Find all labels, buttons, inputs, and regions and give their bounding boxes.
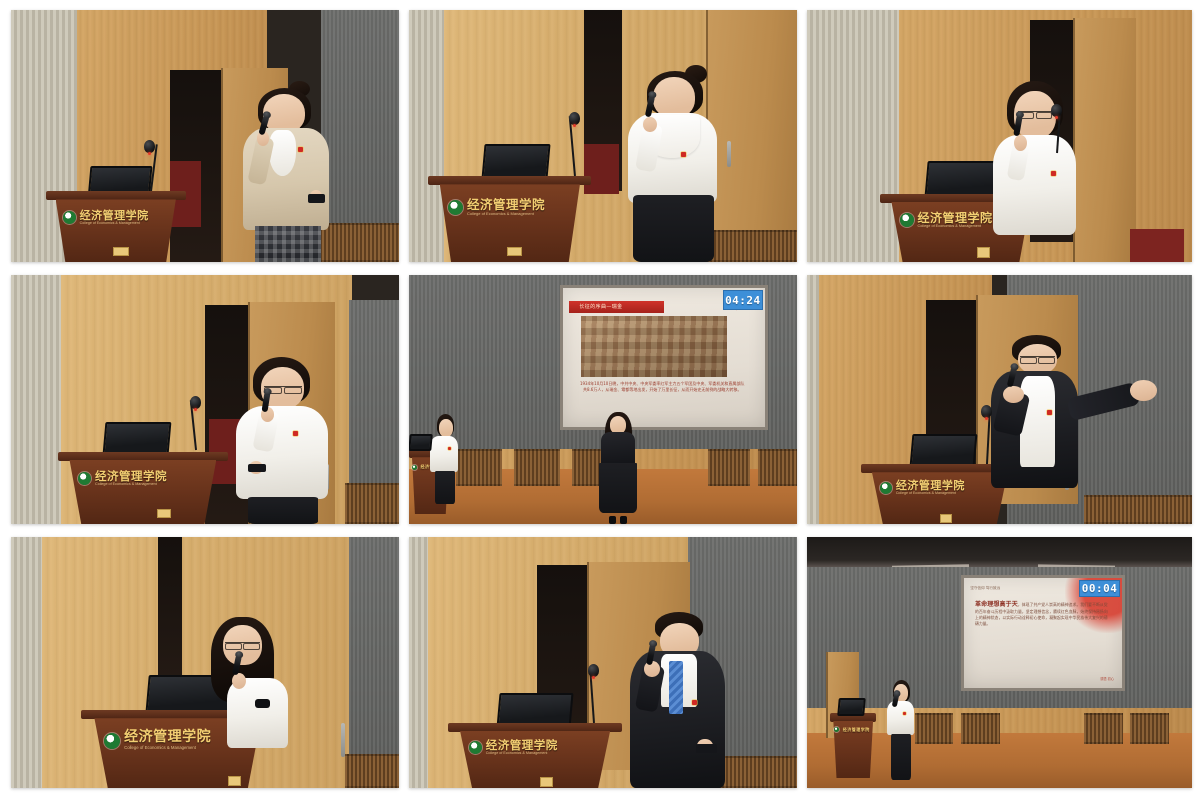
black-dress-top xyxy=(601,432,635,466)
acoustic-panel-left xyxy=(11,275,61,524)
gooseneck-microphone xyxy=(1050,108,1062,153)
party-emblem-badge xyxy=(1051,171,1056,176)
slide-header: 坚守信仰 笃行致远 xyxy=(970,586,1000,591)
acoustic-panel-left xyxy=(807,275,819,524)
podium-laptop xyxy=(104,422,170,454)
photo-cell-bottom-center[interactable]: 经济管理学院 College of Economics & Management xyxy=(409,537,797,788)
white-top xyxy=(887,701,913,735)
lectern-podium: 经济管理学院 xyxy=(830,713,876,778)
podium-nameplate xyxy=(157,509,171,518)
podium-nameplate xyxy=(228,776,241,786)
photo-cell-bottom-left[interactable]: 经济管理学院 College of Economics & Management xyxy=(11,537,399,788)
lectern-podium: 经济管理学院 College of Economics & Management xyxy=(448,723,623,788)
hand-holding-microphone xyxy=(643,117,657,133)
acoustic-panel-right xyxy=(349,537,399,768)
slide-banner-title: 长征的序曲—瑞金 xyxy=(569,301,664,314)
hand-holding-microphone xyxy=(1003,386,1024,403)
wall-vent xyxy=(961,713,1000,745)
wall-vent xyxy=(345,483,399,524)
photo-cell-middle-right[interactable]: 经济管理学院 College of Economics & Management xyxy=(807,275,1192,524)
photo-cell-bottom-right[interactable]: 坚守信仰 笃行致远 革命理想高于天，体现了共产党人崇高的精神追求。我们要不断从党… xyxy=(807,537,1192,788)
podium-label-cn: 经济管理学院 xyxy=(486,740,558,752)
door-handle xyxy=(341,723,345,757)
podium-label-cn: 经济管理学院 xyxy=(80,210,149,221)
slide-caption: 1934年10月10日晚，中共中央、中央军委率红军主力五个军团及中央、军委机关和… xyxy=(579,381,744,406)
podium-nameplate xyxy=(940,514,952,523)
hand-holding-microphone xyxy=(1014,135,1027,151)
doorway-edge xyxy=(158,537,181,683)
college-seal-logo xyxy=(78,472,91,485)
wall-vent xyxy=(345,754,399,788)
photo-cell-top-left[interactable]: 经济管理学院 College of Economics & Management xyxy=(11,10,399,262)
podium-label-en: College of Economics & Management xyxy=(95,483,167,487)
photo-8-scene: 经济管理学院 College of Economics & Management xyxy=(409,537,797,788)
podium-label-en: College of Economics & Management xyxy=(486,752,558,756)
white-shirt xyxy=(993,135,1076,235)
slide-artwork xyxy=(581,316,726,377)
party-emblem-badge xyxy=(692,700,697,705)
acoustic-panel-left xyxy=(409,537,428,788)
person-speaker xyxy=(611,65,751,262)
college-seal-logo xyxy=(469,741,482,754)
countdown-timer: 04:24 xyxy=(723,290,763,310)
black-skirt xyxy=(633,195,714,262)
shoe-left xyxy=(609,516,616,524)
acoustic-panel-left xyxy=(11,537,42,788)
photo-5-scene: 长征的序曲—瑞金 长征 1934年10月10日晚，中共中央、中央军委率红军主力五… xyxy=(409,275,797,524)
slide-quote: 革命理想高于天 xyxy=(975,601,1018,608)
projection-screen: 长征的序曲—瑞金 长征 1934年10月10日晚，中共中央、中央军委率红军主力五… xyxy=(560,285,768,430)
blue-necktie xyxy=(669,661,683,714)
podium-label-cn: 经济管理学院 xyxy=(918,212,993,224)
podium-label-cn: 经济管理学院 xyxy=(95,471,167,483)
presentation-clicker xyxy=(308,194,325,203)
face xyxy=(439,419,453,437)
podium-label-cn: 经济管理学院 xyxy=(843,728,870,732)
person-speaker xyxy=(595,412,642,524)
photo-cell-top-right[interactable]: 经济管理学院 College of Economics & Management xyxy=(807,10,1192,262)
host-laptop xyxy=(409,434,432,451)
white-shirt xyxy=(1020,376,1055,467)
gooseneck-microphone xyxy=(568,116,580,176)
black-dress-skirt xyxy=(599,463,636,512)
party-emblem-badge xyxy=(448,447,451,450)
red-chair-background xyxy=(1130,229,1184,262)
slide-footer: 感悟 初心 xyxy=(1100,676,1114,681)
lectern-podium: 经济管理学院 College of Economics & Management xyxy=(58,452,229,524)
college-seal-logo xyxy=(880,482,892,494)
wall-vent xyxy=(758,449,797,485)
presentation-clicker xyxy=(248,464,265,472)
shoe-right xyxy=(620,516,627,524)
party-emblem-badge xyxy=(1047,410,1052,415)
photo-cell-middle-center[interactable]: 长征的序曲—瑞金 长征 1934年10月10日晚，中共中央、中央军委率红军主力五… xyxy=(409,275,797,524)
open-hand xyxy=(1130,380,1157,401)
wristwatch xyxy=(255,699,270,708)
white-polo xyxy=(430,436,458,472)
photo-2-scene: 经济管理学院 College of Economics & Management xyxy=(409,10,797,262)
wall-vent xyxy=(1084,713,1123,745)
photo-4-scene: 经济管理学院 College of Economics & Management xyxy=(11,275,399,524)
checked-skirt xyxy=(255,226,321,262)
college-seal-logo xyxy=(104,733,120,749)
person-speaker xyxy=(984,81,1100,262)
projection-screen: 坚守信仰 笃行致远 革命理想高于天，体现了共产党人崇高的精神追求。我们要不断从党… xyxy=(961,575,1125,691)
party-emblem-badge xyxy=(298,147,303,152)
person-speaker xyxy=(611,612,751,788)
person-host xyxy=(428,414,463,504)
gooseneck-microphone xyxy=(980,409,992,464)
person-speaker xyxy=(884,680,919,780)
lectern-podium: 经济管理学院 College of Economics & Management xyxy=(428,176,591,262)
dark-trousers xyxy=(435,471,455,504)
college-seal-logo xyxy=(63,211,76,224)
wall-vent xyxy=(1130,713,1169,745)
outstretched-arm xyxy=(1066,381,1140,420)
person-speaker xyxy=(224,83,364,262)
ceiling xyxy=(807,537,1192,570)
photo-cell-top-center[interactable]: 经济管理学院 College of Economics & Management xyxy=(409,10,797,262)
white-top xyxy=(227,678,288,748)
photo-6-scene: 经济管理学院 College of Economics & Management xyxy=(807,275,1192,524)
gooseneck-microphone xyxy=(189,400,201,450)
slide-body-text: 革命理想高于天，体现了共产党人崇高的精神追求。我们要不断从党的百年奋斗历程中汲取… xyxy=(975,600,1108,662)
college-seal-logo xyxy=(834,727,839,732)
podium-label-en: College of Economics & Management xyxy=(918,225,993,229)
white-shirt xyxy=(236,406,328,499)
party-emblem-badge xyxy=(293,431,298,436)
party-emblem-badge xyxy=(681,152,686,157)
photo-cell-middle-left[interactable]: 经济管理学院 College of Economics & Management xyxy=(11,275,399,524)
photo-7-scene: 经济管理学院 College of Economics & Management xyxy=(11,537,399,788)
person-speaker xyxy=(228,357,352,524)
photo-collage-grid: 经济管理学院 College of Economics & Management xyxy=(0,0,1202,802)
college-seal-logo xyxy=(448,200,463,215)
photo-1-scene: 经济管理学院 College of Economics & Management xyxy=(11,10,399,262)
hand-holding-microphone xyxy=(232,673,246,689)
college-seal-logo xyxy=(900,213,914,227)
podium-nameplate xyxy=(540,777,553,787)
podium-label-cn: 经济管理学院 xyxy=(467,199,545,212)
wall-vent xyxy=(514,449,561,485)
podium-nameplate xyxy=(507,247,522,256)
dark-trousers xyxy=(248,497,318,524)
wall-vent xyxy=(708,449,751,485)
podium-nameplate xyxy=(113,247,129,256)
bow-scarf xyxy=(269,130,296,177)
eyeglasses xyxy=(225,642,259,648)
countdown-timer: 00:04 xyxy=(1079,580,1120,597)
person-speaker xyxy=(197,617,298,763)
podium-laptop xyxy=(838,698,865,716)
photo-9-scene: 坚守信仰 笃行致远 革命理想高于天，体现了共产党人崇高的精神追求。我们要不断从党… xyxy=(807,537,1192,788)
college-seal-logo xyxy=(412,465,417,470)
presentation-clicker xyxy=(696,744,717,753)
podium-label-en: College of Economics & Management xyxy=(80,222,149,226)
wall-vent xyxy=(915,713,954,745)
photo-3-scene: 经济管理学院 College of Economics & Management xyxy=(807,10,1192,262)
lectern-podium: 经济管理学院 College of Economics & Management xyxy=(46,191,186,262)
gooseneck-microphone xyxy=(587,668,599,723)
podium-laptop xyxy=(483,144,549,179)
eyeglasses xyxy=(1020,356,1055,362)
podium-label-en: College of Economics & Management xyxy=(467,212,545,216)
dark-trousers xyxy=(891,734,911,780)
